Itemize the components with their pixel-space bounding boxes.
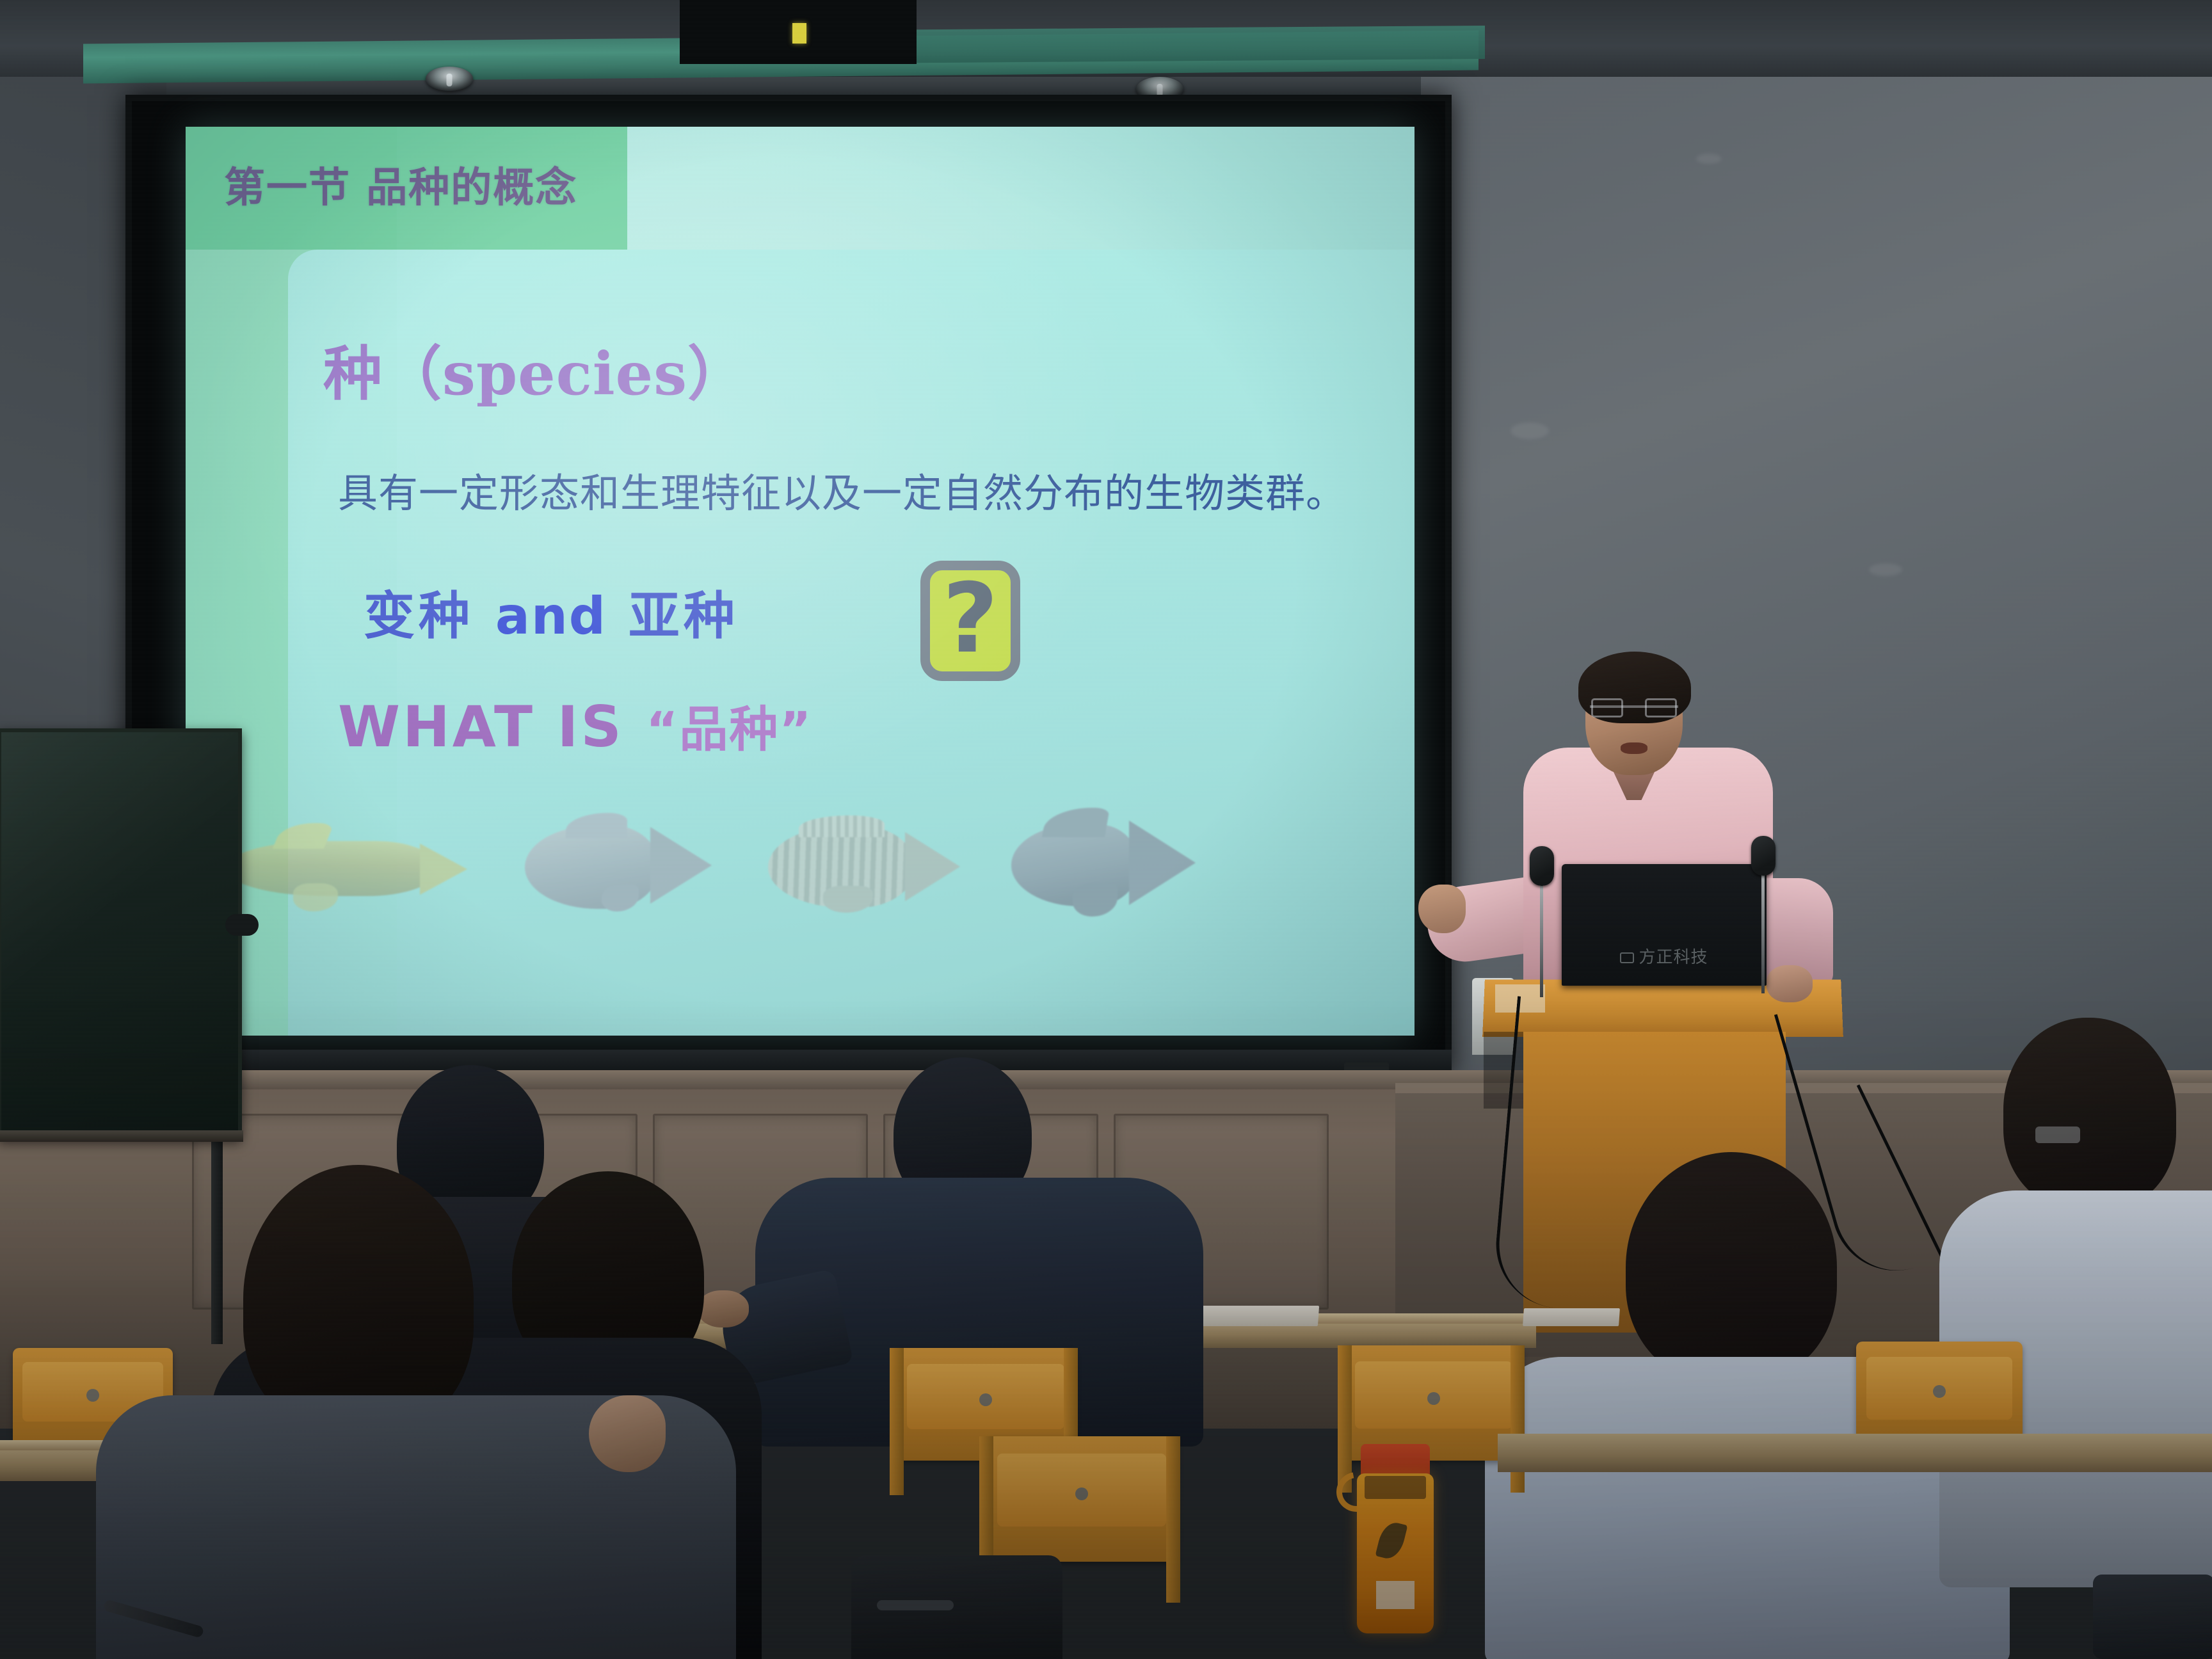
slide-fish-row (186, 805, 1415, 946)
fish-image-1 (216, 822, 492, 918)
chair[interactable] (986, 1436, 1178, 1562)
screen-bottom-bar (125, 1050, 1452, 1071)
lecture-hall-photo: 第一节 品种的概念 种（species） 具有一定形态和生理特征以及一定自然分布… (0, 0, 2212, 1659)
fish-image-2 (525, 813, 723, 922)
question-english: WHAT IS (338, 694, 624, 760)
founder-logo-icon (1620, 952, 1634, 963)
blackboard-chalk-tray (0, 1130, 243, 1142)
presenter-glasses-icon (1590, 705, 1678, 708)
chair-post (890, 1348, 904, 1495)
laptop[interactable]: 方正科技 (1562, 864, 1767, 986)
presentation-slide: 第一节 品种的概念 种（species） 具有一定形态和生理特征以及一定自然分布… (186, 127, 1415, 1036)
question-quoted-zh: “品种” (646, 701, 812, 758)
papers-on-desk[interactable] (1523, 1308, 1620, 1326)
slide-body-text: 具有一定形态和生理特征以及一定自然分布的生物类群。 (338, 461, 1346, 518)
variety-middle-en: and (495, 586, 607, 646)
bottle-label (1376, 1581, 1415, 1609)
question-mark-glyph: ? (942, 576, 998, 662)
papers-on-desk[interactable] (1196, 1306, 1319, 1326)
presenter-left-hand (1418, 885, 1466, 933)
microphone-left[interactable] (1530, 846, 1554, 886)
question-mark-badge: ? (920, 561, 1020, 681)
slide-variety-line: 变种 and 亚种 (364, 575, 739, 649)
easel-adjust-knob[interactable] (225, 914, 259, 936)
bottle-neck (1365, 1476, 1426, 1499)
fish-image-3 (768, 815, 979, 923)
downlight-icon-left (426, 67, 473, 91)
heading-paren-close: ） (687, 340, 747, 408)
presenter-right-hand (1767, 965, 1813, 1002)
object-bottom-right (2093, 1575, 2212, 1659)
chair-post (1338, 1345, 1352, 1493)
slide-heading-species: 种（species） (323, 326, 747, 412)
variety-left-zh: 变种 (364, 586, 474, 646)
heading-zh: 种 (323, 340, 383, 408)
heading-en: species (442, 339, 687, 408)
variety-right-zh: 亚种 (629, 586, 739, 646)
presenter-mouth (1621, 742, 1647, 754)
microphone-right[interactable] (1751, 836, 1775, 876)
chair-post (1166, 1436, 1180, 1603)
chair[interactable] (1344, 1345, 1523, 1461)
bag-zipper (877, 1600, 954, 1610)
laptop-brand-text: 方正科技 (1639, 948, 1708, 967)
slide-question-line: WHAT IS “品种” (338, 690, 812, 760)
attendee-ear (589, 1395, 666, 1472)
attendee-glasses-icon (2035, 1126, 2080, 1143)
projector-led-indicator (792, 23, 806, 44)
heading-paren-open: （ (383, 340, 442, 408)
fish-image-4 (1011, 808, 1216, 926)
slide-section-title: 第一节 品种的概念 (224, 155, 577, 214)
desk-row-2-right (1498, 1434, 2212, 1472)
laptop-brand-logo: 方正科技 (1620, 944, 1708, 968)
blackboard (0, 728, 242, 1139)
